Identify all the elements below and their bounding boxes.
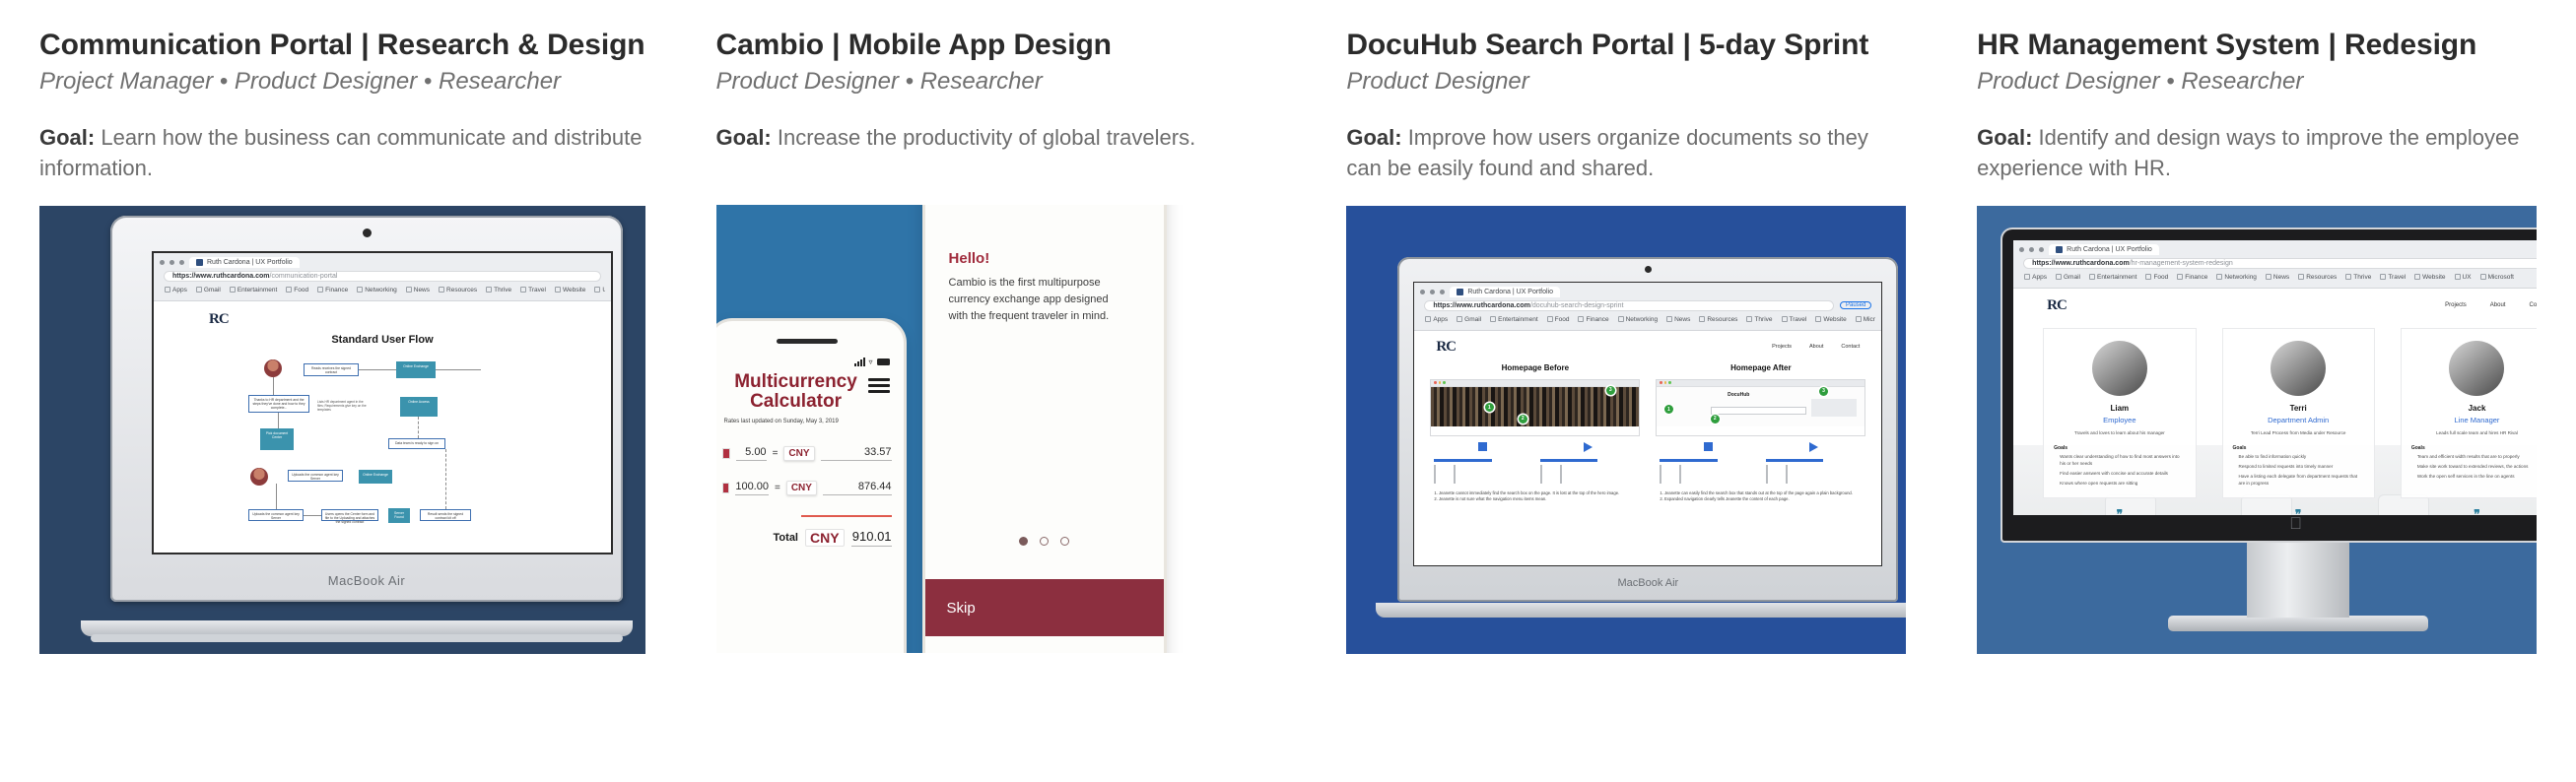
group-header	[1434, 459, 1492, 463]
project-roles: Product Designer • Researcher	[716, 68, 1276, 97]
bookmark-icon	[486, 287, 492, 293]
bookmark-icon	[1425, 316, 1431, 322]
play-icon	[1584, 442, 1593, 452]
bookmark-label: Thrive	[494, 287, 511, 293]
bookmark-label: Finance	[2185, 274, 2207, 281]
site-nav: Projects About Contact	[1772, 344, 1860, 350]
page-header: RC Projects About Contact	[2013, 289, 2537, 314]
flow-note: Lists HR department agent in the files; …	[317, 400, 369, 412]
flow-connector	[278, 413, 279, 428]
bookmark-icon	[555, 287, 561, 293]
project-thumbnail-docuhub[interactable]: MacBook Air Ruth Cardona | UX Portfolio	[1346, 206, 1906, 654]
feature-icons	[1430, 442, 1640, 452]
bookmark-label: Gmail	[1464, 316, 1481, 323]
flow-node: Online Exchange	[359, 470, 392, 484]
bookmark-label: News	[414, 287, 430, 293]
project-card-hr-management[interactable]: HR Management System | Redesign Product …	[1977, 28, 2537, 782]
bookmark-item[interactable]: Travel	[520, 287, 546, 293]
bookmark-item[interactable]: Networking	[357, 287, 397, 293]
nav-item-contact[interactable]: Contact	[1841, 344, 1860, 350]
play-icon	[1809, 442, 1818, 452]
onboarding-copy: Cambio is the first multipurpose currenc…	[949, 275, 1121, 325]
browser-tab-row: Ruth Cardona | UX Portfolio	[2019, 244, 2537, 255]
file-groups	[1656, 459, 1865, 485]
file-thumbnail	[1434, 466, 1447, 484]
bookmark-label: Apps	[2032, 274, 2047, 281]
bookmark-label: Entertainment	[1498, 316, 1537, 323]
maximize-window-icon[interactable]	[2039, 247, 2044, 252]
bookmark-item[interactable]: Entertainment	[1490, 316, 1537, 323]
currency-code[interactable]: CNY	[783, 446, 814, 461]
persona-role: Employee	[2054, 416, 2185, 424]
note-item: 2. Jeanette is not sure what the navigat…	[1434, 496, 1636, 502]
webcam-icon	[363, 228, 372, 237]
sidebar-panel	[1811, 399, 1857, 417]
device-label: MacBook Air	[110, 573, 623, 588]
browser-tab[interactable]: Ruth Cardona | UX Portfolio	[1450, 287, 1560, 297]
persona-avatar	[264, 359, 282, 377]
bookmark-icon	[1490, 316, 1496, 322]
quote-block: ❞ I don't know what else HRMS is capable…	[2401, 508, 2537, 515]
bookmark-item[interactable]: Website	[1815, 316, 1846, 323]
bookmark-item[interactable]: Food	[286, 287, 308, 293]
project-title: DocuHub Search Portal | 5-day Sprint	[1346, 28, 1906, 62]
bookmark-label: Networking	[365, 287, 397, 293]
close-window-icon[interactable]	[2019, 247, 2024, 252]
project-title: Communication Portal | Research & Design	[39, 28, 645, 62]
file-thumbnail	[1540, 466, 1553, 484]
browser-tab[interactable]: Ruth Cardona | UX Portfolio	[2049, 244, 2159, 255]
bookmark-icon	[2145, 274, 2151, 280]
flow-node: Online Access	[400, 397, 438, 417]
quote-mark-icon: ❞	[2222, 508, 2375, 515]
pagination-dot[interactable]	[1040, 537, 1049, 546]
browser-url-row: https://www.ruthcardona.com/docuhub-sear…	[1420, 297, 1875, 314]
file-group	[1434, 459, 1530, 485]
minimize-window-icon[interactable]	[169, 260, 174, 265]
file-row	[1434, 466, 1530, 484]
bookmark-item[interactable]: Finance	[2177, 274, 2207, 281]
persona-description: Leads full scale team and hires HR Rival	[2411, 430, 2537, 437]
bookmark-icon	[2177, 274, 2183, 280]
bookmark-icon	[165, 287, 170, 293]
total-value: 910.01	[851, 529, 892, 547]
persona-card: Terri Department Admin Terri Lead Proces…	[2222, 328, 2375, 498]
bookmark-item[interactable]: Entertainment	[2089, 274, 2136, 281]
page-header: RC Projects About Contact	[1414, 331, 1881, 356]
monitor-stand	[2168, 616, 2428, 631]
project-thumbnail-hr-management[interactable]: Ruth Cardona | UX Portfolio https://www.…	[1977, 206, 2537, 654]
bookmark-label: Networking	[1626, 316, 1659, 323]
bookmark-item[interactable]: Gmail	[196, 287, 221, 293]
url-path: /docuhub-search-design-sprint	[1530, 302, 1624, 309]
bookmark-icon	[1815, 316, 1821, 322]
flow-node: Online Exchange	[396, 361, 436, 378]
amount-input[interactable]: 100.00	[735, 481, 769, 495]
project-card-docuhub[interactable]: DocuHub Search Portal | 5-day Sprint Pro…	[1346, 28, 1906, 782]
amount-input[interactable]: 5.00	[736, 446, 767, 461]
bookmark-item[interactable]: Website	[2414, 274, 2445, 281]
browser-tab[interactable]: Ruth Cardona | UX Portfolio	[189, 257, 300, 268]
bookmark-item[interactable]: Gmail	[2056, 274, 2080, 281]
persona-role: Line Manager	[2411, 416, 2537, 424]
bookmark-item[interactable]: Food	[2145, 274, 2168, 281]
bookmark-icon	[1856, 316, 1862, 322]
currency-row[interactable]: 5.00 = CNY 33.57	[722, 446, 892, 461]
bookmark-icon	[1666, 316, 1672, 322]
pagination-dot[interactable]	[1060, 537, 1069, 546]
equals-sign: =	[775, 483, 780, 493]
calculator-header: Multicurrency Calculator	[716, 366, 904, 412]
laptop-screen: Ruth Cardona | UX Portfolio https://www.…	[152, 251, 613, 554]
file-thumbnail	[1766, 466, 1779, 484]
total-currency: CNY	[805, 529, 845, 547]
persona-name: Jack	[2411, 404, 2537, 413]
site-logo[interactable]: RC	[2047, 297, 2067, 314]
minimize-window-icon[interactable]	[1430, 290, 1435, 294]
file-groups	[1430, 459, 1640, 485]
bookmark-item[interactable]: Networking	[1618, 316, 1659, 323]
bookmark-icon	[439, 287, 444, 293]
bookmark-item[interactable]: Thrive	[2345, 274, 2371, 281]
file-thumbnail	[1560, 466, 1573, 484]
column-after: Homepage After	[1656, 363, 1865, 503]
bookmark-label: Apps	[1433, 316, 1448, 323]
group-header	[1540, 459, 1598, 463]
bookmark-item[interactable]: Microsoft	[1856, 316, 1876, 323]
flow-node: Reads receives the signed contract	[304, 363, 359, 376]
search-input[interactable]	[1711, 407, 1806, 415]
project-thumbnail-cambio[interactable]: ▿ Multicurrency Calculator Rates last up…	[716, 205, 1276, 653]
screenshot-before: 3 1 2	[1430, 379, 1640, 436]
bookmark-label: Gmail	[204, 287, 221, 293]
avatar	[2271, 341, 2326, 396]
close-window-icon[interactable]	[160, 260, 165, 265]
column-heading-after: Homepage After	[1656, 363, 1865, 372]
currency-code[interactable]: CNY	[786, 481, 817, 495]
persona-goal: Knows where open requests are sitting	[2054, 481, 2185, 488]
calculator-title-line1: Multicurrency	[724, 372, 868, 392]
bookmark-icon	[357, 287, 363, 293]
bookmark-item[interactable]: Entertainment	[230, 287, 277, 293]
feature-icons	[1656, 442, 1865, 452]
url-path: /communication-portal	[270, 273, 338, 280]
project-title: HR Management System | Redesign	[1977, 28, 2537, 62]
column-heading-before: Homepage Before	[1430, 363, 1640, 372]
project-roles: Product Designer	[1346, 68, 1906, 97]
site-logo[interactable]: RC	[209, 311, 611, 328]
bookmark-icon	[2480, 274, 2486, 280]
persona-description: Travels and loves to learn about his man…	[2054, 430, 2185, 437]
bookmark-item[interactable]: Thrive	[1746, 316, 1772, 323]
project-card-cambio[interactable]: Cambio | Mobile App Design Product Desig…	[716, 28, 1276, 782]
bookmark-label: Entertainment	[237, 287, 277, 293]
file-row	[1766, 466, 1863, 484]
bookmark-label: Gmail	[2064, 274, 2080, 281]
persona-description: Terri Lead Process from Media under Reso…	[2233, 430, 2364, 437]
flow-connector	[359, 369, 396, 370]
bookmarks-bar: Apps Gmail Entertainment Food Finance Ne…	[160, 285, 605, 296]
bookmark-label: Finance	[1586, 316, 1608, 323]
persona-goal: Respond to limited requests into timely …	[2233, 464, 2364, 471]
bookmark-label: Apps	[172, 287, 187, 293]
bookmark-item[interactable]: Food	[1547, 316, 1570, 323]
goals-label: Goals	[2054, 445, 2185, 451]
screenshot-after: DocuHub 3 1 2	[1656, 379, 1865, 436]
webcam-icon	[1645, 266, 1652, 273]
flow-node: Data team is ready to sign on	[388, 438, 445, 449]
notes-before: 1. Jeanette cannot immediately find the …	[1430, 490, 1640, 503]
bookmark-label: News	[1674, 316, 1690, 323]
macbook-mockup: MacBook Air Ruth Cardona | UX Portfolio	[81, 216, 633, 654]
group-header	[1766, 459, 1824, 463]
persona-goal: Be able to find information quickly	[2233, 454, 2364, 461]
bookmark-icon	[2089, 274, 2095, 280]
goal-label: Goal:	[1977, 125, 2032, 150]
bookmark-item[interactable]: Resources	[439, 287, 477, 293]
file-thumbnail	[1660, 466, 1672, 484]
browser-chrome: Ruth Cardona | UX Portfolio https://www.…	[1414, 283, 1881, 331]
nav-item-projects[interactable]: Projects	[2445, 302, 2467, 308]
bookmark-icon	[1547, 316, 1553, 322]
monitor-neck	[2247, 541, 2349, 618]
project-thumbnail-communication-portal[interactable]: MacBook Air Ruth Cardona | UX Portfolio	[39, 206, 645, 654]
annotation-pin: 2	[1711, 415, 1720, 424]
goal-label: Goal:	[39, 125, 95, 150]
quote-block: ❞ Bring the information forward.	[2222, 508, 2375, 515]
bookmarks-bar: Apps Gmail Entertainment Food Finance Ne…	[1420, 314, 1875, 326]
bookmark-icon	[594, 287, 600, 293]
bookmark-item[interactable]: Microsoft	[2480, 274, 2514, 281]
portfolio-grid: Communication Portal | Research & Design…	[0, 0, 2576, 782]
onboarding-heading: Hello!	[949, 250, 1140, 267]
profile-status-chip[interactable]: Paused	[1840, 301, 1871, 309]
flow-node: Users opens the Center form and file to …	[321, 509, 378, 521]
persona-goal: Wants clear understanding of how to find…	[2054, 454, 2185, 468]
tab-title: Ruth Cardona | UX Portfolio	[2067, 246, 2152, 253]
bookmark-label: Entertainment	[2097, 274, 2136, 281]
flow-connector	[445, 449, 446, 509]
bookmark-label: Finance	[325, 287, 348, 293]
bookmark-item[interactable]: Networking	[2216, 274, 2257, 281]
project-roles: Product Designer • Researcher	[1977, 68, 2537, 97]
bookmark-icon	[2380, 274, 2386, 280]
goal-text: Identify and design ways to improve the …	[1977, 125, 2519, 180]
battery-icon	[877, 358, 890, 365]
persona-card: Liam Employee Travels and loves to learn…	[2043, 328, 2196, 498]
bookmark-item[interactable]: News	[1666, 316, 1690, 323]
file-row	[1540, 466, 1637, 484]
bookmark-item[interactable]: Finance	[1578, 316, 1608, 323]
flow-connector	[276, 484, 277, 509]
bookmark-icon	[2266, 274, 2271, 280]
persona-goal: Team and efficient width results that ar…	[2411, 454, 2537, 461]
bookmark-label: Resources	[1707, 316, 1737, 323]
maximize-window-icon	[1443, 381, 1445, 383]
file-group	[1540, 459, 1637, 485]
persona-goal: Work the open self services in the line …	[2411, 474, 2537, 481]
bookmark-item[interactable]: UX	[2455, 274, 2472, 281]
total-label: Total	[774, 532, 798, 544]
bookmark-label: Website	[563, 287, 585, 293]
laptop-screen: Ruth Cardona | UX Portfolio https://www.…	[1413, 282, 1882, 566]
flow-diagram-title: Standard User Flow	[154, 334, 611, 346]
bookmark-label: Thrive	[1754, 316, 1772, 323]
bookmark-label: Travel	[2388, 274, 2406, 281]
browser-tab-row: Ruth Cardona | UX Portfolio	[1420, 287, 1875, 297]
bookmark-item[interactable]: Website	[555, 287, 585, 293]
converted-value: 33.57	[821, 446, 892, 461]
group-header	[1660, 459, 1718, 463]
site-nav: Projects About Contact	[2445, 302, 2537, 308]
persona-goal: Find easier answers with concise and acc…	[2054, 471, 2185, 478]
nav-item-about[interactable]: About	[1809, 344, 1823, 350]
flow-connector	[273, 377, 274, 395]
persona-quotes: ❞ HRMS are not easy to find. I ask where…	[2013, 498, 2537, 515]
maximize-window-icon[interactable]	[179, 260, 184, 265]
onboarding-pagination-dots[interactable]	[925, 537, 1164, 546]
flow-node: Thanks to HR department and the steps th…	[248, 395, 309, 413]
equals-sign: =	[773, 448, 779, 459]
quote-block: ❞ HRMS are not easy to find. I ask where…	[2043, 508, 2196, 515]
nav-item-contact[interactable]: Contact	[2529, 302, 2537, 308]
address-bar[interactable]: https://www.ruthcardona.com/docuhub-sear…	[1424, 300, 1834, 311]
annotation-pin: 2	[1519, 415, 1527, 424]
bookmark-item[interactable]: News	[406, 287, 430, 293]
bookmarks-bar: Apps Gmail Entertainment Food Finance Ne…	[2019, 272, 2537, 284]
bookmark-icon	[2056, 274, 2062, 280]
rates-updated-label: Rates last updated on Sunday, May 3, 201…	[716, 412, 904, 424]
bookmark-icon	[1746, 316, 1752, 322]
project-goal: Goal: Improve how users organize documen…	[1346, 122, 1906, 183]
bookmark-item[interactable]: News	[2266, 274, 2289, 281]
bookmark-icon	[2216, 274, 2222, 280]
bookmark-icon	[317, 287, 323, 293]
bookmark-label: Resources	[446, 287, 477, 293]
favicon-icon	[196, 259, 203, 266]
flag-icon	[722, 448, 730, 459]
bookmark-label: UX	[602, 287, 605, 293]
bookmark-label: Microsoft	[2488, 274, 2514, 281]
laptop-lid: MacBook Air Ruth Cardona | UX Portfolio	[1397, 257, 1898, 602]
maximize-window-icon[interactable]	[1440, 290, 1445, 294]
nav-item-projects[interactable]: Projects	[1772, 344, 1792, 350]
flow-node: Server Found	[388, 508, 410, 523]
bookmark-label: Travel	[1790, 316, 1807, 323]
persona-cards: Liam Employee Travels and loves to learn…	[2013, 314, 2537, 498]
status-bar: ▿	[716, 344, 904, 366]
apple-logo-icon: 	[2289, 515, 2307, 535]
bookmark-item[interactable]: Finance	[317, 287, 348, 293]
address-bar[interactable]: https://www.ruthcardona.com/communicatio…	[164, 271, 601, 282]
address-bar[interactable]: https://www.ruthcardona.com/hr-managemen…	[2023, 258, 2537, 269]
bookmark-label: Resources	[2306, 274, 2337, 281]
total-divider	[801, 515, 892, 517]
persona-name: Liam	[2054, 404, 2185, 413]
project-goal: Goal: Learn how the business can communi…	[39, 122, 645, 183]
bookmark-icon	[2345, 274, 2351, 280]
close-window-icon	[1660, 381, 1661, 383]
bookmark-icon	[1457, 316, 1462, 322]
file-group	[1766, 459, 1863, 485]
bookmark-item[interactable]: Travel	[1782, 316, 1807, 323]
signal-icon	[854, 358, 865, 366]
bookmark-label: Food	[294, 287, 308, 293]
project-goal: Goal: Identify and design ways to improv…	[1977, 122, 2537, 183]
skip-button[interactable]: Skip	[925, 579, 1164, 636]
bookmark-item[interactable]: Apps	[165, 287, 187, 293]
nav-item-about[interactable]: About	[2490, 302, 2506, 308]
bookmark-label: Website	[1823, 316, 1846, 323]
bookmark-item[interactable]: Resources	[2298, 274, 2337, 281]
bookmark-item[interactable]: Travel	[2380, 274, 2406, 281]
bookmark-item[interactable]: Gmail	[1457, 316, 1481, 323]
bookmark-icon	[2024, 274, 2030, 280]
annotation-pin: 3	[1819, 387, 1828, 396]
maximize-window-icon	[1668, 381, 1670, 383]
flag-icon	[722, 483, 730, 493]
flow-node: Uploads the common agent key Server	[288, 470, 343, 482]
close-window-icon[interactable]	[1420, 290, 1425, 294]
bookmark-item[interactable]: Thrive	[486, 287, 511, 293]
before-after-columns: Homepage Before	[1414, 356, 1881, 503]
phone-mockup-onboarding: Hello! Cambio is the first multipurpose …	[925, 205, 1164, 653]
project-goal: Goal: Increase the productivity of globa…	[716, 122, 1276, 183]
bookmark-label: Travel	[528, 287, 546, 293]
hamburger-menu-icon[interactable]	[868, 378, 890, 393]
file-group	[1660, 459, 1756, 485]
pagination-dot-active[interactable]	[1019, 537, 1028, 546]
bookmark-item[interactable]: Apps	[1425, 316, 1448, 323]
portfolio-page: RC Projects About Contact	[2013, 289, 2537, 515]
annotation-pin: 3	[1606, 386, 1615, 395]
url-domain: https://www.ruthcardona.com	[172, 273, 270, 280]
goal-label: Goal:	[716, 125, 772, 150]
bookmark-icon	[2414, 274, 2420, 280]
bookmark-item[interactable]: Resources	[1699, 316, 1737, 323]
quote-mark-icon: ❞	[2043, 508, 2196, 515]
imac-mockup: Ruth Cardona | UX Portfolio https://www.…	[2002, 229, 2537, 653]
minimize-window-icon[interactable]	[2029, 247, 2034, 252]
flow-diagram: Reads receives the signed contract Onlin…	[154, 354, 611, 554]
browser-chrome: Ruth Cardona | UX Portfolio https://www.…	[2013, 240, 2537, 289]
document-icon	[1478, 442, 1487, 451]
site-logo[interactable]: RC	[1436, 339, 1456, 356]
flow-node: Pick document Center	[260, 428, 294, 450]
bookmark-label: Microsoft	[1864, 316, 1876, 323]
goals-label: Goals	[2233, 445, 2364, 451]
bookmark-icon	[1782, 316, 1788, 322]
column-before: Homepage Before	[1430, 363, 1640, 503]
portfolio-page: RC Projects About Contact Homepage Befor…	[1414, 331, 1881, 566]
converted-value: 876.44	[823, 481, 892, 495]
bookmark-icon	[230, 287, 236, 293]
flow-node: Uploads the common agent key Server	[248, 509, 304, 521]
persona-role: Department Admin	[2233, 416, 2364, 424]
bookmark-label: UX	[2463, 274, 2472, 281]
currency-row[interactable]: 100.00 = CNY 876.44	[722, 481, 892, 495]
project-roles: Project Manager • Product Designer • Res…	[39, 68, 645, 97]
project-card-communication-portal[interactable]: Communication Portal | Research & Design…	[39, 28, 645, 782]
browser-chrome: Ruth Cardona | UX Portfolio https://www.…	[154, 253, 611, 301]
annotation-pin: 1	[1485, 403, 1494, 412]
bookmark-icon	[406, 287, 412, 293]
total-row: Total CNY 910.01	[716, 529, 904, 547]
tab-title: Ruth Cardona | UX Portfolio	[207, 259, 293, 266]
bookmark-item[interactable]: Apps	[2024, 274, 2047, 281]
hero-image: DocuHub	[1657, 387, 1864, 426]
bookmark-item[interactable]: UX	[594, 287, 605, 293]
